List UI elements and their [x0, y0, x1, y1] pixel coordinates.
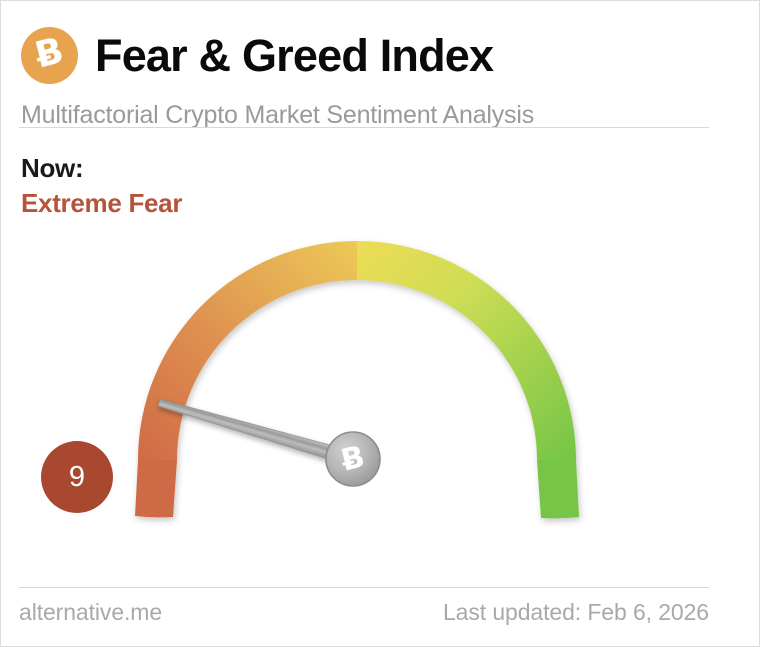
index-value-text: 9 — [69, 463, 85, 492]
status-block: Now: Extreme Fear — [21, 153, 182, 218]
footer-last-updated: Last updated: Feb 6, 2026 — [443, 599, 709, 626]
footer: alternative.me Last updated: Feb 6, 2026 — [19, 599, 709, 626]
page-subtitle: Multifactorial Crypto Market Sentiment A… — [21, 101, 709, 130]
title-row: Ƀ Fear & Greed Index — [19, 19, 709, 91]
page-title: Fear & Greed Index — [95, 33, 493, 78]
gauge-arc-greed-segment — [357, 241, 576, 460]
fear-greed-index-widget: Ƀ Fear & Greed Index Multifactorial Cryp… — [0, 0, 760, 647]
bitcoin-icon: Ƀ — [21, 27, 78, 84]
footer-divider — [19, 587, 709, 588]
needle-hub: Ƀ — [326, 432, 380, 486]
index-value-badge: 9 — [41, 441, 113, 513]
gauge-arc-left-tip — [135, 460, 177, 517]
header-divider — [19, 127, 709, 128]
bitcoin-glyph: Ƀ — [32, 33, 67, 74]
gauge-arc-right-tip — [537, 460, 579, 518]
footer-source[interactable]: alternative.me — [19, 599, 162, 626]
gauge-svg: Ƀ — [1, 229, 760, 559]
needle-pointer — [157, 395, 355, 466]
gauge-needle — [157, 395, 355, 466]
status-now-label: Now: — [21, 153, 182, 184]
status-sentiment: Extreme Fear — [21, 188, 182, 219]
gauge: Ƀ — [1, 229, 760, 559]
header: Ƀ Fear & Greed Index Multifactorial Cryp… — [19, 19, 709, 130]
